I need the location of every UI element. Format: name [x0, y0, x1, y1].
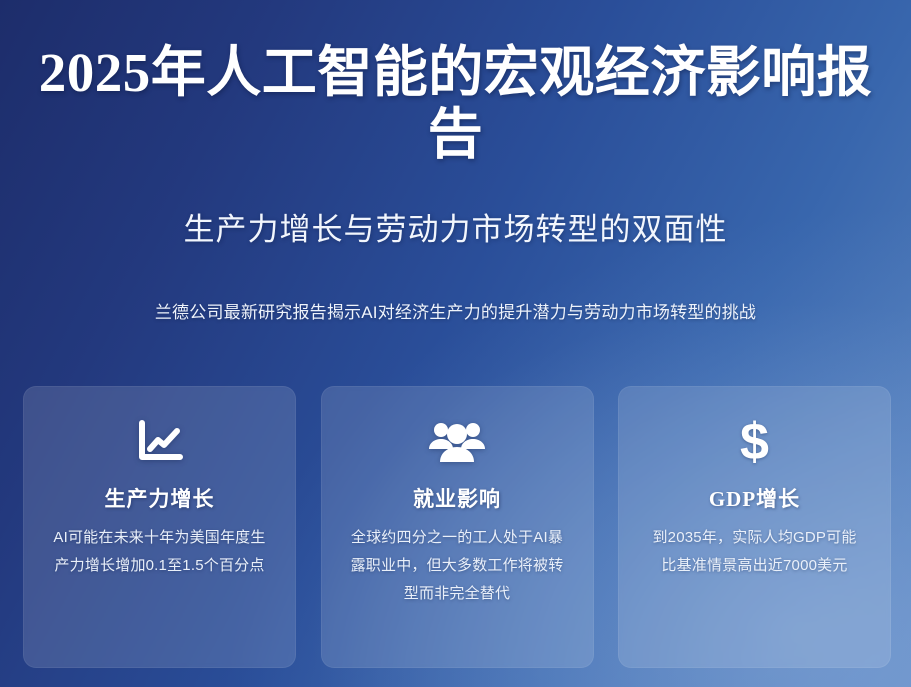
- card-title: 就业影响: [340, 485, 575, 513]
- card-productivity-growth[interactable]: 生产力增长 AI可能在未来十年为美国年度生产力增长增加0.1至1.5个百分点: [23, 386, 296, 668]
- page-title: 2025年人工智能的宏观经济影响报告: [24, 42, 887, 166]
- card-text: 到2035年，实际人均GDP可能比基准情景高出近7000美元: [637, 524, 872, 580]
- highlight-cards: 生产力增长 AI可能在未来十年为美国年度生产力增长增加0.1至1.5个百分点 就…: [23, 386, 891, 668]
- card-text: 全球约四分之一的工人处于AI暴露职业中，但大多数工作将被转型而非完全替代: [340, 524, 575, 608]
- page-subtitle: 生产力增长与劳动力市场转型的双面性: [24, 211, 887, 249]
- page-description: 兰德公司最新研究报告揭示AI对经济生产力的提升潜力与劳动力市场转型的挑战: [18, 300, 893, 326]
- chart-line-icon: [42, 413, 277, 471]
- users-group-icon: [340, 413, 575, 471]
- card-text: AI可能在未来十年为美国年度生产力增长增加0.1至1.5个百分点: [42, 524, 277, 580]
- dollar-glyph: $: [740, 416, 769, 468]
- card-gdp-growth[interactable]: $ GDP增长 到2035年，实际人均GDP可能比基准情景高出近7000美元: [618, 386, 891, 668]
- card-title: 生产力增长: [42, 485, 277, 513]
- poster-root: 2025年人工智能的宏观经济影响报告 生产力增长与劳动力市场转型的双面性 兰德公…: [0, 0, 911, 687]
- card-employment-impact[interactable]: 就业影响 全球约四分之一的工人处于AI暴露职业中，但大多数工作将被转型而非完全替…: [321, 386, 594, 668]
- card-title: GDP增长: [637, 485, 872, 513]
- dollar-sign-icon: $: [637, 413, 872, 471]
